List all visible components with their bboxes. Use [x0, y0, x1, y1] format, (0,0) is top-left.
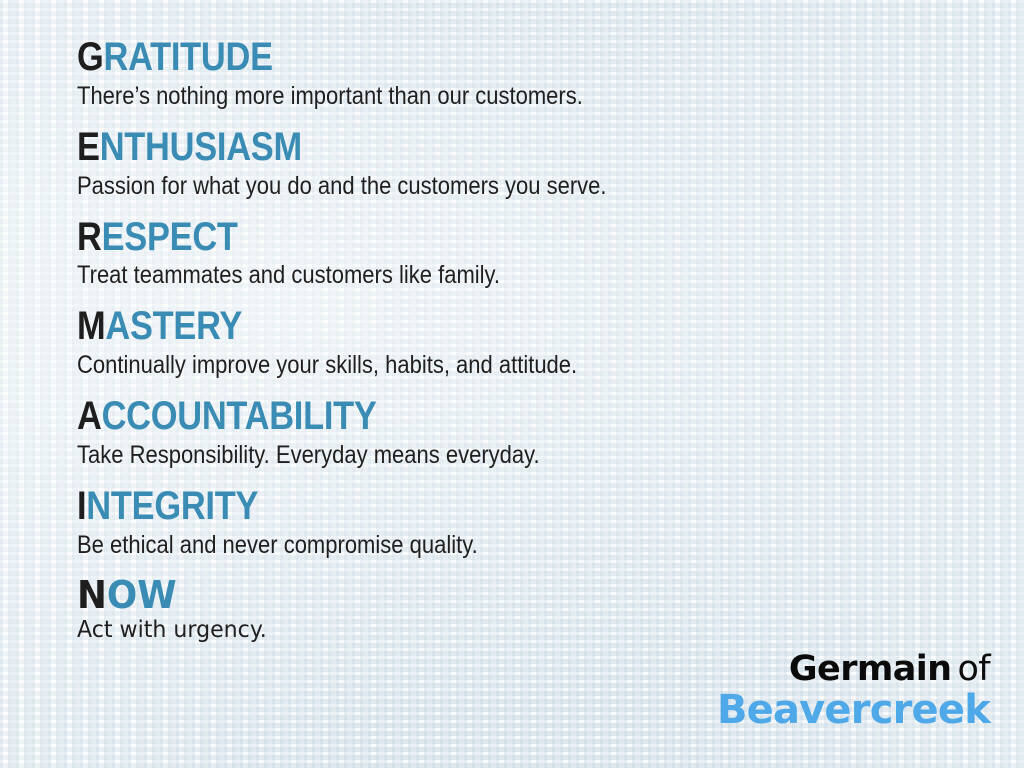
- value-lead-letter: E: [77, 125, 100, 169]
- value-lead-letter: R: [77, 215, 102, 259]
- value-rest-letters: RATITUDE: [104, 35, 273, 79]
- value-lead-letter: A: [77, 394, 102, 438]
- value-heading-enthusiasm: ENTHUSIASM: [77, 126, 851, 169]
- value-description-integrity: Be ethical and never compromise quality.: [77, 530, 869, 560]
- value-lead-letter: M: [77, 304, 105, 348]
- logo-connector-word: of: [957, 649, 990, 689]
- value-rest-letters: OW: [107, 573, 177, 617]
- value-block-mastery: MASTERY Continually improve your skills,…: [77, 305, 977, 380]
- value-heading-accountability: ACCOUNTABILITY: [77, 395, 851, 438]
- logo-brand-name: Germain: [789, 649, 952, 689]
- value-lead-letter: N: [77, 573, 107, 617]
- core-values-list: GRATITUDE There’s nothing more important…: [77, 36, 977, 660]
- value-heading-now: NOW: [77, 575, 923, 616]
- value-description-respect: Treat teammates and customers like famil…: [77, 260, 869, 290]
- value-description-enthusiasm: Passion for what you do and the customer…: [77, 171, 869, 201]
- value-rest-letters: ASTERY: [105, 304, 242, 348]
- value-description-mastery: Continually improve your skills, habits,…: [77, 350, 869, 380]
- value-lead-letter: G: [77, 35, 104, 79]
- value-description-now: Act with urgency.: [77, 617, 941, 645]
- value-block-gratitude: GRATITUDE There’s nothing more important…: [77, 36, 977, 111]
- value-block-integrity: INTEGRITY Be ethical and never compromis…: [77, 485, 977, 560]
- value-heading-integrity: INTEGRITY: [77, 485, 851, 528]
- value-rest-letters: ESPECT: [102, 215, 238, 259]
- value-lead-letter: I: [77, 484, 86, 528]
- value-block-enthusiasm: ENTHUSIASM Passion for what you do and t…: [77, 126, 977, 201]
- logo-location-name: Beavercreek: [717, 690, 990, 730]
- value-rest-letters: NTHUSIASM: [100, 125, 302, 169]
- value-rest-letters: CCOUNTABILITY: [102, 394, 377, 438]
- value-block-respect: RESPECT Treat teammates and customers li…: [77, 216, 977, 291]
- value-heading-gratitude: GRATITUDE: [77, 36, 851, 79]
- dealership-logo: Germainof Beavercreek: [717, 652, 990, 730]
- value-description-gratitude: There’s nothing more important than our …: [77, 81, 869, 111]
- values-poster: GRATITUDE There’s nothing more important…: [0, 0, 1024, 768]
- value-rest-letters: NTEGRITY: [86, 484, 258, 528]
- value-block-now: NOW Act with urgency.: [77, 575, 977, 645]
- logo-primary-line: Germainof: [717, 652, 990, 687]
- value-description-accountability: Take Responsibility. Everyday means ever…: [77, 440, 869, 470]
- value-heading-mastery: MASTERY: [77, 305, 851, 348]
- value-heading-respect: RESPECT: [77, 216, 851, 259]
- value-block-accountability: ACCOUNTABILITY Take Responsibility. Ever…: [77, 395, 977, 470]
